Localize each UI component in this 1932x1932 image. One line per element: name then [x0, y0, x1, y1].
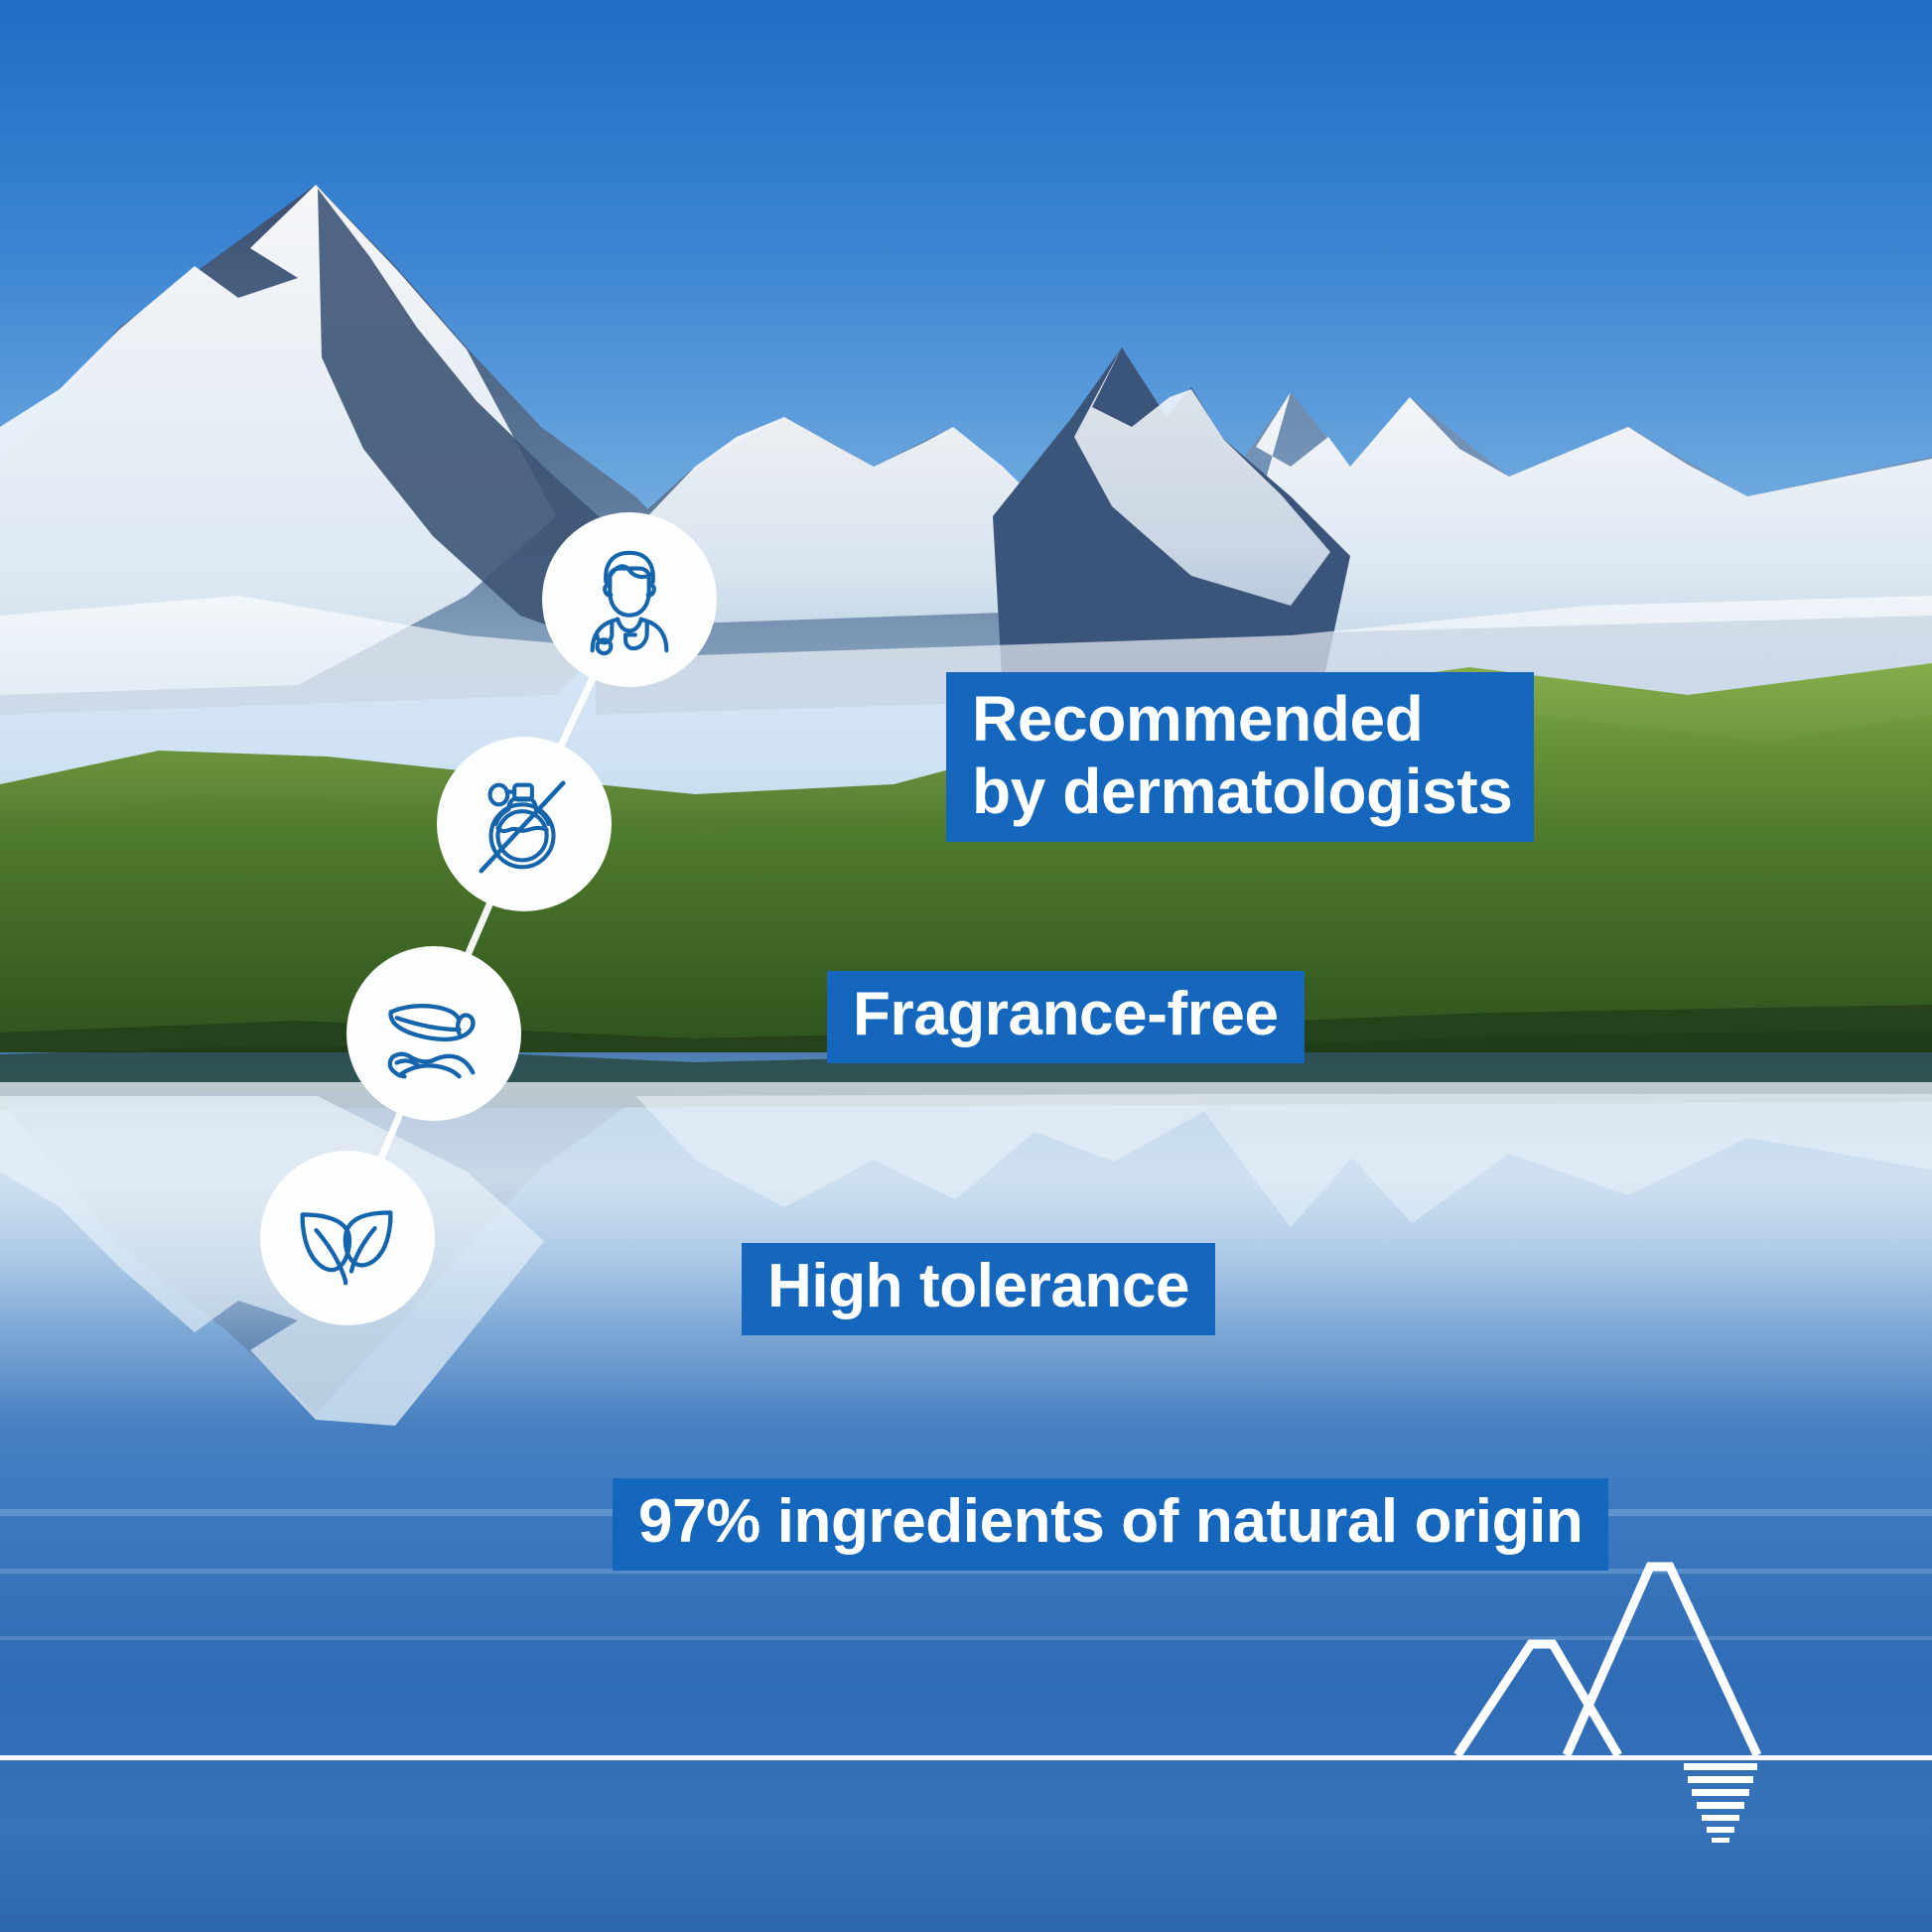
doctor-stethoscope-icon — [571, 541, 688, 658]
badge-icon-circle-fragrance-free[interactable] — [437, 737, 612, 911]
badge-label-fragrance-free: Fragrance-free — [827, 971, 1305, 1063]
badge-label-high-tolerance: High tolerance — [742, 1243, 1215, 1335]
two-leaves-icon — [289, 1179, 406, 1297]
perfume-bottle-crossed-out-icon — [466, 765, 583, 883]
badge-label-recommended-by-dermatologists: Recommended by dermatologists — [946, 672, 1534, 842]
promotional-graphic: Recommended by dermatologists — [0, 0, 1932, 1932]
badge-icon-circle-high-tolerance[interactable] — [346, 946, 521, 1121]
twin-peaks-reflection-logo — [1420, 1549, 1896, 1847]
badge-icon-circle-recommended-by-dermatologists[interactable] — [542, 512, 717, 687]
reflection-stripes — [1684, 1763, 1757, 1843]
feather-on-hand-icon — [375, 975, 492, 1092]
badge-icon-circle-natural-origin-ingredients[interactable] — [260, 1151, 435, 1325]
